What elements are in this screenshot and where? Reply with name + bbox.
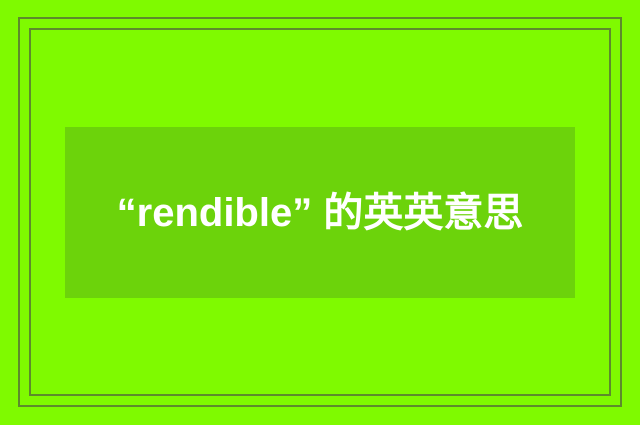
title-card: “rendible” 的英英意思: [0, 0, 640, 425]
headline-banner: “rendible” 的英英意思: [65, 127, 575, 298]
page-title: “rendible” 的英英意思: [65, 184, 575, 242]
headline-text: “rendible” 的英英意思: [117, 191, 524, 235]
